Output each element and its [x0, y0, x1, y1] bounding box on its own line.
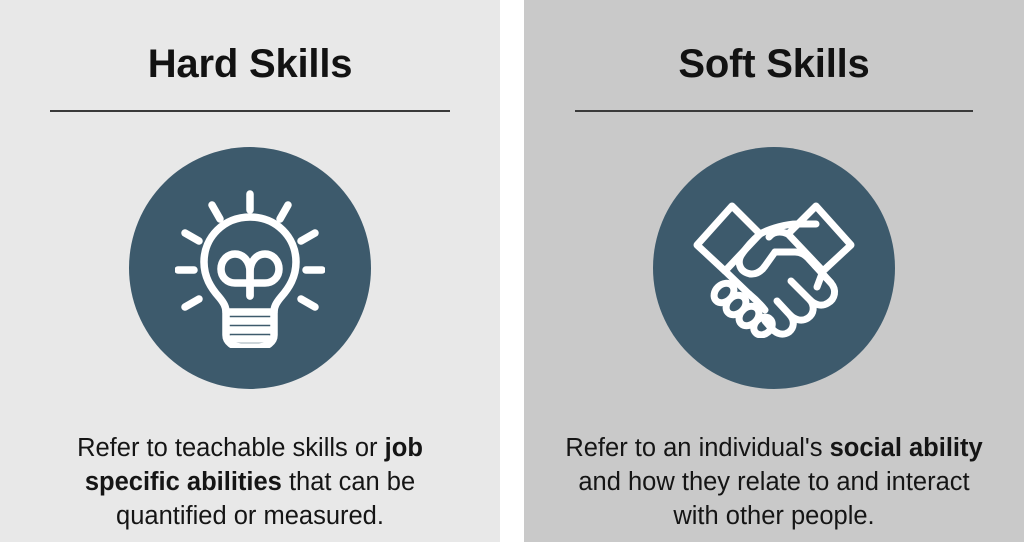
- skills-comparison-infographic: Hard Skills: [0, 0, 1024, 542]
- panel-hard-skills: Hard Skills: [0, 0, 500, 542]
- body-lead-hard-skills: Refer to teachable skills or: [77, 434, 377, 462]
- panel-title-soft-skills: Soft Skills: [678, 44, 869, 84]
- panel-soft-skills: Soft Skills: [524, 0, 1024, 542]
- handshake-icon: [691, 198, 857, 338]
- icon-circle-hard-skills: [129, 147, 371, 389]
- body-emphasis-soft-skills: social ability: [830, 434, 983, 462]
- title-divider-soft-skills: [575, 110, 973, 112]
- panel-body-hard-skills: Refer to teachable skills or job specifi…: [35, 431, 465, 533]
- panel-body-soft-skills: Refer to an individual's social ability …: [559, 431, 989, 533]
- title-divider-hard-skills: [50, 110, 450, 112]
- body-tail-soft-skills: and how they relate to and interact with…: [578, 468, 969, 530]
- lightbulb-icon: [175, 188, 325, 348]
- icon-circle-soft-skills: [653, 147, 895, 389]
- panel-title-hard-skills: Hard Skills: [148, 44, 353, 84]
- body-lead-soft-skills: Refer to an individual's: [565, 434, 822, 462]
